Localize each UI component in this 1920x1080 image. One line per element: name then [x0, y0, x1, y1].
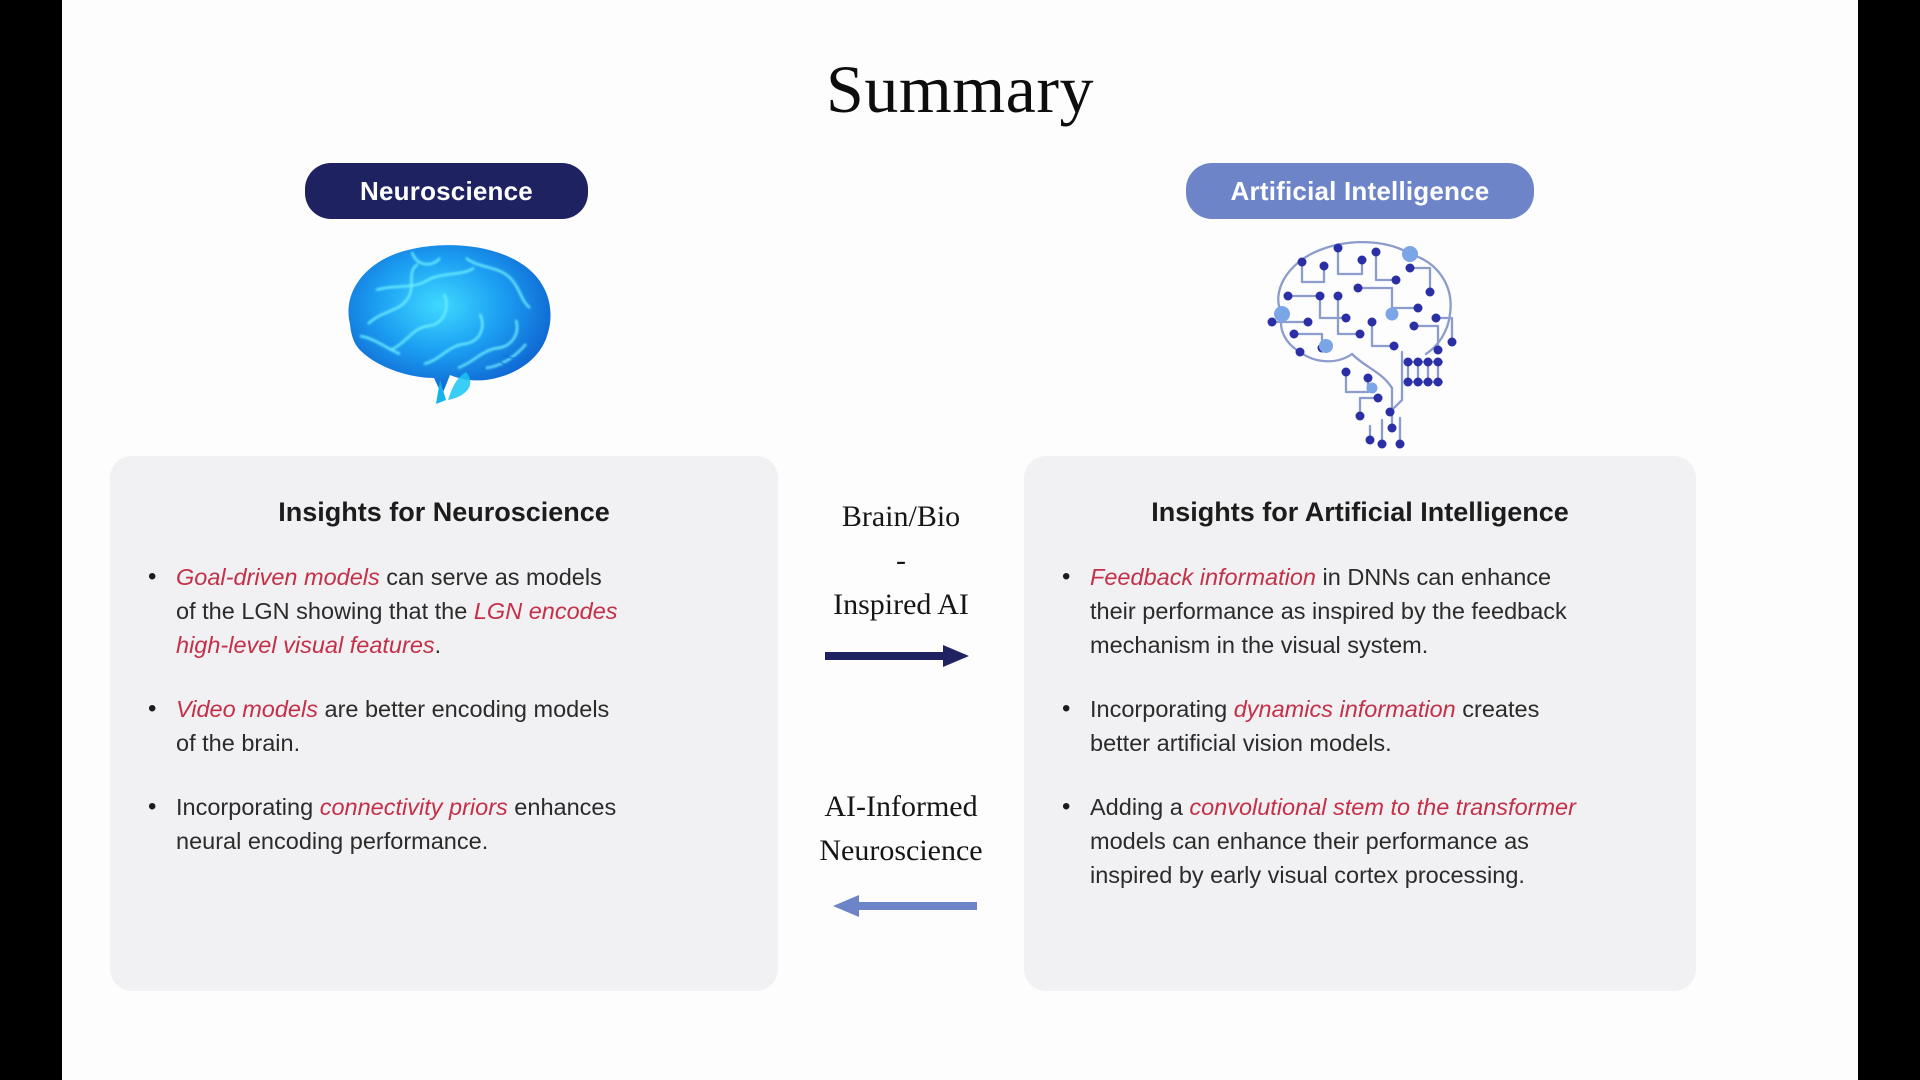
neuroscience-badge-label: Neuroscience: [360, 176, 533, 207]
label-line: Brain/Bio: [778, 495, 1024, 539]
neuroscience-badge: Neuroscience: [305, 163, 588, 219]
arrow-shaft: [825, 652, 947, 660]
bullet-marker-icon: •: [142, 790, 176, 824]
list-item-text: Adding a convolutional stem to the trans…: [1090, 790, 1590, 892]
brain-image: [316, 228, 576, 418]
circuit-brain-icon: [1242, 222, 1482, 457]
artificial-intelligence-badge-label: Artificial Intelligence: [1231, 176, 1490, 207]
plain-phrase: Incorporating: [176, 794, 320, 820]
plain-phrase: models can enhance their performance as …: [1090, 828, 1529, 888]
slide-canvas: Summary Neuroscience Artificial Intellig…: [62, 0, 1858, 1080]
list-item-text: Incorporating dynamics information creat…: [1090, 692, 1590, 760]
label-line: Inspired AI: [778, 583, 1024, 627]
page-title: Summary: [62, 50, 1858, 129]
bidirectional-arrows-column: Brain/Bio - Inspired AI AI-Informed Neur…: [778, 480, 1024, 900]
highlight-phrase: Goal-driven models: [176, 564, 380, 590]
highlight-phrase: dynamics information: [1234, 696, 1456, 722]
highlight-phrase: Video models: [176, 696, 318, 722]
list-item: • Video models are better encoding model…: [142, 692, 750, 760]
highlight-phrase: connectivity priors: [320, 794, 508, 820]
bullet-marker-icon: •: [1056, 790, 1090, 824]
insights-ai-panel: Insights for Artificial Intelligence • F…: [1024, 456, 1696, 991]
list-item-text: Video models are better encoding models …: [176, 692, 626, 760]
label-line: -: [778, 539, 1024, 583]
artificial-intelligence-badge: Artificial Intelligence: [1186, 163, 1534, 219]
list-item: • Incorporating dynamics information cre…: [1056, 692, 1668, 760]
bullet-marker-icon: •: [142, 692, 176, 726]
list-item: • Feedback information in DNNs can enhan…: [1056, 560, 1668, 662]
panel-heading-right: Insights for Artificial Intelligence: [1024, 456, 1696, 528]
list-item-text: Goal-driven models can serve as models o…: [176, 560, 626, 662]
bullet-list-left: • Goal-driven models can serve as models…: [110, 560, 778, 858]
arrow-head: [943, 645, 969, 667]
bullet-marker-icon: •: [142, 560, 176, 594]
list-item-text: Feedback information in DNNs can enhance…: [1090, 560, 1590, 662]
arrow-head: [833, 895, 859, 917]
left-arrow-icon: [825, 895, 977, 917]
bullet-list-right: • Feedback information in DNNs can enhan…: [1024, 560, 1696, 892]
ai-informed-neuroscience-label: AI-Informed Neuroscience: [778, 785, 1024, 873]
bullet-marker-icon: •: [1056, 560, 1090, 594]
highlight-phrase: convolutional stem to the transformer: [1189, 794, 1576, 820]
label-line: AI-Informed: [778, 785, 1024, 829]
list-item: • Goal-driven models can serve as models…: [142, 560, 750, 662]
highlight-phrase: Feedback information: [1090, 564, 1316, 590]
list-item-text: Incorporating connectivity priors enhanc…: [176, 790, 626, 858]
right-arrow-icon: [825, 645, 977, 667]
list-item: • Adding a convolutional stem to the tra…: [1056, 790, 1668, 892]
arrow-shaft: [855, 902, 977, 910]
plain-phrase: Incorporating: [1090, 696, 1234, 722]
label-line: Neuroscience: [778, 829, 1024, 873]
list-item: • Incorporating connectivity priors enha…: [142, 790, 750, 858]
bullet-marker-icon: •: [1056, 692, 1090, 726]
insights-neuroscience-panel: Insights for Neuroscience • Goal-driven …: [110, 456, 778, 991]
plain-phrase: Adding a: [1090, 794, 1189, 820]
plain-phrase: .: [435, 632, 442, 658]
brain-inspired-ai-label: Brain/Bio - Inspired AI: [778, 495, 1024, 627]
panel-heading-left: Insights for Neuroscience: [110, 456, 778, 528]
